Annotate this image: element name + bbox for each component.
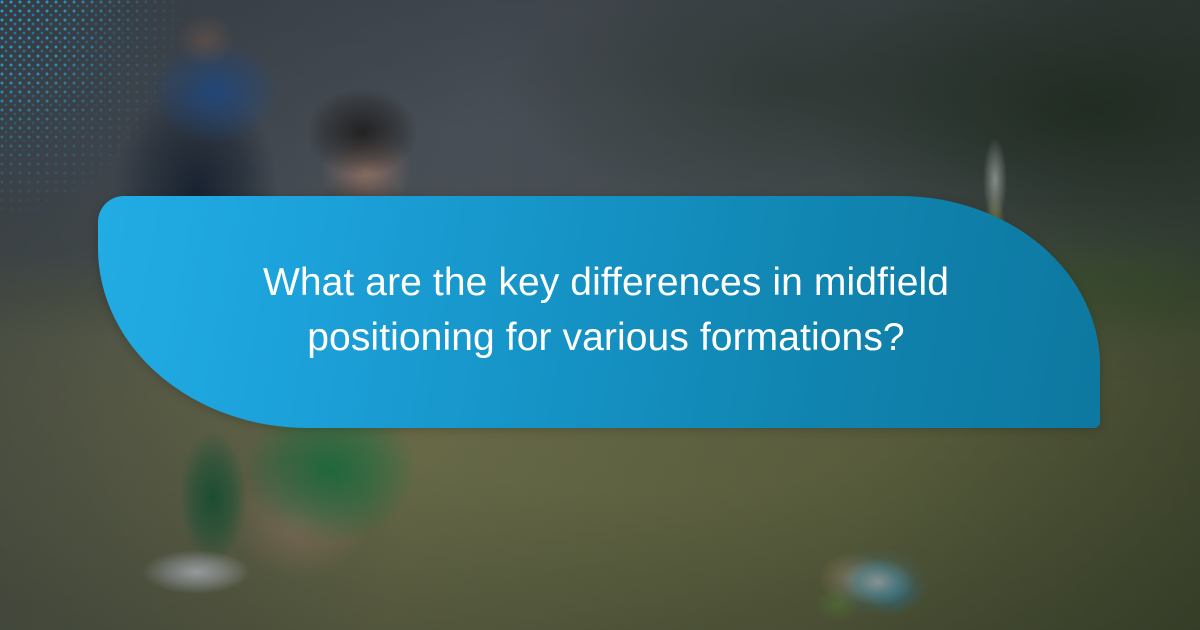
question-banner: What are the key differences in midfield…	[98, 196, 1100, 428]
question-text: What are the key differences in midfield…	[256, 255, 956, 366]
share-card: What are the key differences in midfield…	[0, 0, 1200, 630]
